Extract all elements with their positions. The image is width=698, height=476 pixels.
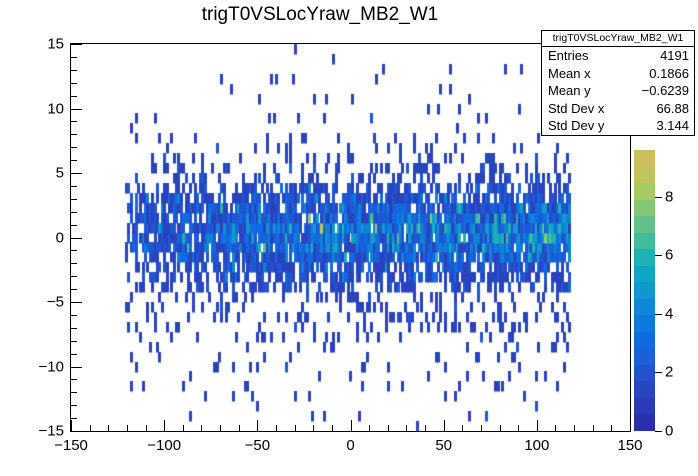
statistics-row-label: Entries [548, 47, 588, 65]
x-axis-minor-tick [146, 425, 147, 431]
y-axis-minor-tick [71, 263, 77, 264]
palette-band [634, 299, 655, 315]
palette-band [634, 249, 655, 266]
x-axis-tick-label: 0 [346, 437, 354, 454]
x-axis-major-tick [351, 420, 352, 431]
y-axis-minor-tick [71, 121, 77, 122]
x-axis-minor-tick [295, 425, 296, 431]
x-axis-tick-label: 150 [617, 437, 642, 454]
statistics-row-value: 66.88 [656, 100, 689, 118]
y-axis-minor-tick [71, 134, 77, 135]
x-axis-minor-tick [518, 425, 519, 431]
x-axis-minor-tick [574, 425, 575, 431]
palette-band [634, 398, 655, 414]
y-axis-minor-tick [71, 212, 77, 213]
palette-tick [655, 197, 662, 198]
y-axis-minor-tick [71, 186, 77, 187]
y-axis-minor-tick [71, 83, 77, 84]
y-axis-minor-tick [71, 289, 77, 290]
palette-tick [655, 431, 662, 432]
statistics-row-label: Mean y [548, 82, 591, 100]
x-axis-minor-tick [593, 425, 594, 431]
x-axis-major-tick [164, 420, 165, 431]
x-axis-minor-tick [462, 425, 463, 431]
x-axis-minor-tick [90, 425, 91, 431]
palette-tick [655, 255, 662, 256]
statistics-box-title: trigT0VSLocYraw_MB2_W1 [542, 31, 694, 47]
statistics-rows: Entries4191Mean x0.1866Mean y−0.6239Std … [542, 47, 694, 135]
y-axis-minor-tick [71, 328, 77, 329]
x-axis-minor-tick [332, 425, 333, 431]
statistics-row-label: Mean x [548, 65, 591, 83]
y-axis-tick-label: 5 [24, 165, 64, 182]
x-axis-minor-tick [369, 425, 370, 431]
x-axis-minor-tick [425, 425, 426, 431]
y-axis-major-tick [71, 302, 82, 303]
y-axis-major-tick [71, 173, 82, 174]
x-axis-minor-tick [220, 425, 221, 431]
x-axis-minor-tick [108, 425, 109, 431]
x-axis-minor-tick [500, 425, 501, 431]
y-axis-tick-label: −10 [24, 358, 64, 375]
y-axis-minor-tick [71, 354, 77, 355]
x-axis-minor-tick [183, 425, 184, 431]
palette-tick-label: 4 [665, 306, 673, 323]
statistics-row: Entries4191 [542, 47, 694, 65]
palette-tick [655, 372, 662, 373]
y-axis-minor-tick [71, 315, 77, 316]
statistics-row-value: 4191 [660, 47, 689, 65]
y-axis-major-tick [71, 431, 82, 432]
statistics-row: Std Dev y3.144 [542, 117, 694, 135]
x-axis-minor-tick [127, 425, 128, 431]
statistics-row: Mean x0.1866 [542, 65, 694, 83]
statistics-row-value: −0.6239 [642, 82, 689, 100]
y-axis-minor-tick [71, 160, 77, 161]
x-axis-minor-tick [239, 425, 240, 431]
y-axis-minor-tick [71, 276, 77, 277]
palette-band [634, 266, 655, 282]
y-axis-minor-tick [71, 57, 77, 58]
palette-tick-label: 0 [665, 423, 673, 440]
x-axis-tick-label: 50 [435, 437, 452, 454]
x-axis-minor-tick [313, 425, 314, 431]
y-axis-minor-tick [71, 96, 77, 97]
palette-band [634, 233, 655, 249]
palette-band [634, 315, 655, 332]
x-axis-major-tick [257, 420, 258, 431]
y-axis-minor-tick [71, 70, 77, 71]
palette-tick-label: 8 [665, 189, 673, 206]
palette-band [634, 200, 655, 216]
palette-band [634, 216, 655, 233]
x-axis-minor-tick [388, 425, 389, 431]
x-axis-tick-label: −50 [245, 437, 270, 454]
palette-band [634, 365, 655, 381]
x-axis-minor-tick [201, 425, 202, 431]
x-axis-tick-label: 100 [524, 437, 549, 454]
statistics-row-value: 3.144 [656, 117, 689, 135]
palette-band [634, 183, 655, 200]
color-palette-bar [634, 150, 655, 431]
y-axis-tick-label: 10 [24, 100, 64, 117]
x-axis-minor-tick [406, 425, 407, 431]
statistics-row: Mean y−0.6239 [542, 82, 694, 100]
y-axis-minor-tick [71, 418, 77, 419]
y-axis-major-tick [71, 367, 82, 368]
palette-band [634, 414, 655, 431]
y-axis-minor-tick [71, 250, 77, 251]
palette-tick [655, 314, 662, 315]
palette-band [634, 167, 655, 183]
x-axis-tick-label: −100 [147, 437, 181, 454]
y-axis-minor-tick [71, 379, 77, 380]
y-axis-major-tick [71, 238, 82, 239]
y-axis-major-tick [71, 109, 82, 110]
x-axis-minor-tick [611, 425, 612, 431]
statistics-row: Std Dev x66.88 [542, 100, 694, 118]
statistics-row-label: Std Dev x [548, 100, 604, 118]
palette-band [634, 150, 655, 167]
x-axis-major-tick [444, 420, 445, 431]
statistics-row-value: 0.1866 [649, 65, 689, 83]
root-plot-canvas: trigT0VSLocYraw_MB2_W1 −15−10−5051015−15… [0, 0, 698, 476]
x-axis-major-tick [630, 420, 631, 431]
statistics-box: trigT0VSLocYraw_MB2_W1 Entries4191Mean x… [541, 30, 695, 136]
palette-band [634, 332, 655, 348]
y-axis-major-tick [71, 44, 82, 45]
palette-band [634, 282, 655, 299]
palette-tick-label: 6 [665, 247, 673, 264]
palette-tick-label: 2 [665, 364, 673, 381]
statistics-row-label: Std Dev y [548, 117, 604, 135]
x-axis-tick-label: −150 [54, 437, 88, 454]
page-title: trigT0VSLocYraw_MB2_W1 [0, 4, 640, 26]
y-axis-minor-tick [71, 392, 77, 393]
x-axis-major-tick [71, 420, 72, 431]
y-axis-minor-tick [71, 405, 77, 406]
x-axis-minor-tick [555, 425, 556, 431]
y-axis-tick-label: −5 [24, 294, 64, 311]
x-axis-major-tick [537, 420, 538, 431]
y-axis-tick-label: 15 [24, 36, 64, 53]
x-axis-minor-tick [481, 425, 482, 431]
y-axis-tick-label: 0 [24, 229, 64, 246]
y-axis-minor-tick [71, 341, 77, 342]
y-axis-minor-tick [71, 199, 77, 200]
y-axis-minor-tick [71, 147, 77, 148]
color-palette-axis: 02468 [655, 150, 695, 431]
palette-band [634, 381, 655, 398]
x-axis-minor-tick [276, 425, 277, 431]
y-axis-minor-tick [71, 225, 77, 226]
palette-band [634, 348, 655, 365]
